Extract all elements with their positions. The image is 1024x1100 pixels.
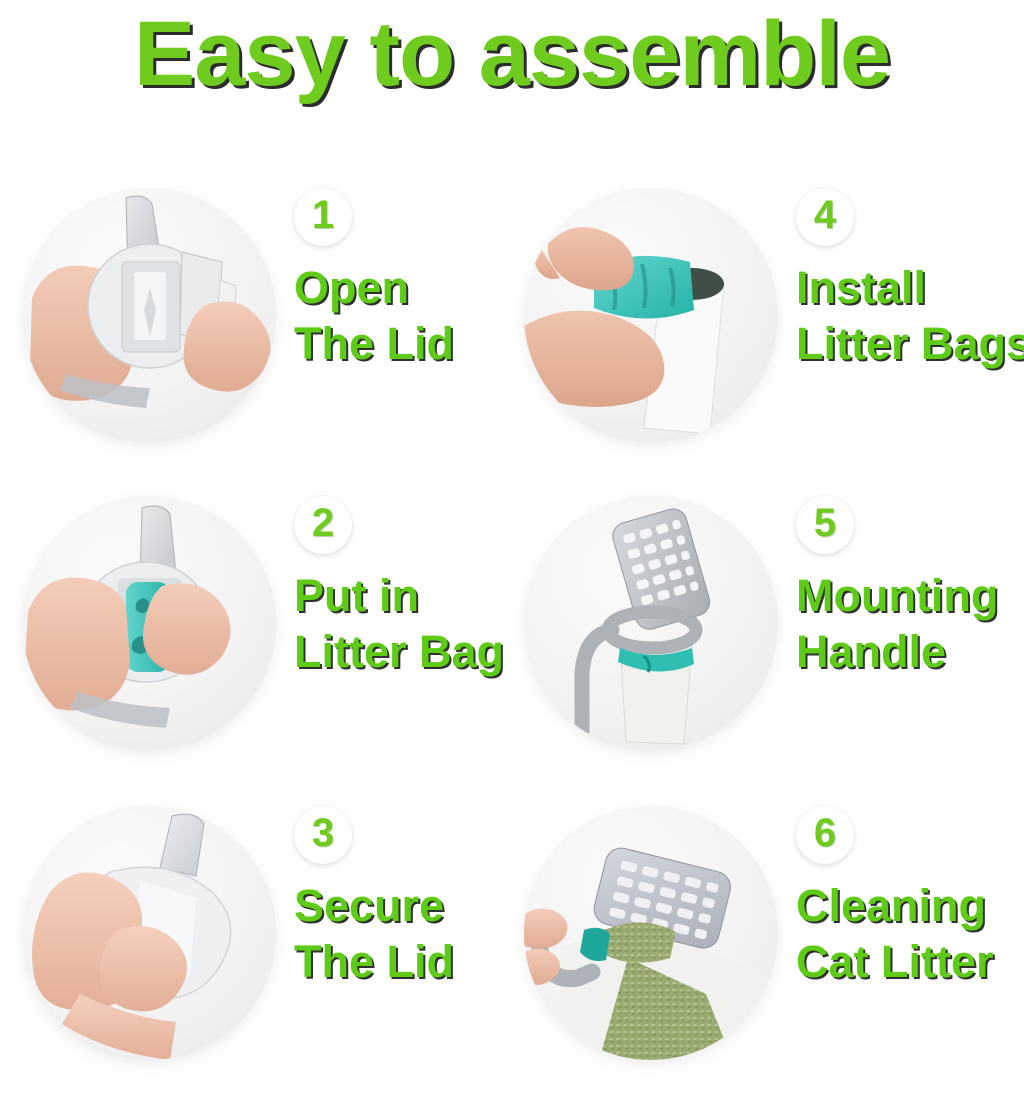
step-photo-open-lid [22, 188, 276, 442]
step-text-column: 1 Open The Lid [276, 180, 512, 372]
step-label-line2: Cat Litter [796, 934, 1024, 990]
step-label-line1: Put in [294, 568, 512, 624]
page-title: Easy to assemble [0, 2, 1024, 106]
put-in-bag-illustration [22, 496, 276, 750]
step-number: 5 [814, 503, 836, 543]
step-label-line2: Litter Bag [294, 624, 512, 680]
step-label-line1: Cleaning [796, 878, 1024, 934]
step-number: 6 [814, 813, 836, 853]
secure-lid-illustration [22, 806, 276, 1060]
step-label-line1: Mounting [796, 568, 1024, 624]
step-label: Mounting Handle [796, 568, 1024, 680]
step-photo-clean-litter [524, 806, 778, 1060]
step-number-badge: 3 [294, 806, 352, 864]
step-text-column: 5 Mounting Handle [778, 488, 1024, 680]
step-number: 3 [312, 813, 334, 853]
step-number-badge: 4 [796, 188, 854, 246]
step-text-column: 6 Cleaning Cat Litter [778, 798, 1024, 990]
step-item: 6 Cleaning Cat Litter [512, 798, 1024, 1100]
step-text-column: 4 Install Litter Bags [778, 180, 1024, 372]
step-label-line2: Handle [796, 624, 1024, 680]
open-lid-illustration [22, 188, 276, 442]
infographic-page: Easy to assemble [0, 0, 1024, 1100]
step-label-line1: Install [796, 260, 1024, 316]
step-number-badge: 1 [294, 188, 352, 246]
step-photo-secure-lid [22, 806, 276, 1060]
step-number-badge: 2 [294, 496, 352, 554]
step-label-line2: The Lid [294, 316, 512, 372]
step-photo-put-in-bag [22, 496, 276, 750]
step-item: 4 Install Litter Bags [512, 180, 1024, 488]
step-item: 1 Open The Lid [0, 180, 512, 488]
step-item: 5 Mounting Handle [512, 488, 1024, 798]
step-label: Cleaning Cat Litter [796, 878, 1024, 990]
steps-grid: 1 Open The Lid [0, 180, 1024, 1100]
step-label: Open The Lid [294, 260, 512, 372]
step-label: Install Litter Bags [796, 260, 1024, 372]
step-label-line2: Litter Bags [796, 316, 1024, 372]
mount-handle-illustration [524, 496, 778, 750]
step-number: 4 [814, 195, 836, 235]
step-photo-mount-handle [524, 496, 778, 750]
step-label: Secure The Lid [294, 878, 512, 990]
step-number: 2 [312, 503, 334, 543]
step-label-line1: Secure [294, 878, 512, 934]
step-label-line1: Open [294, 260, 512, 316]
step-text-column: 3 Secure The Lid [276, 798, 512, 990]
step-number-badge: 5 [796, 496, 854, 554]
step-number: 1 [312, 195, 334, 235]
step-label: Put in Litter Bag [294, 568, 512, 680]
clean-litter-illustration [524, 806, 778, 1060]
step-item: 2 Put in Litter Bag [0, 488, 512, 798]
step-photo-install-bags [524, 188, 778, 442]
step-item: 3 Secure The Lid [0, 798, 512, 1100]
step-number-badge: 6 [796, 806, 854, 864]
step-label-line2: The Lid [294, 934, 512, 990]
install-bags-illustration [524, 188, 778, 442]
step-text-column: 2 Put in Litter Bag [276, 488, 512, 680]
